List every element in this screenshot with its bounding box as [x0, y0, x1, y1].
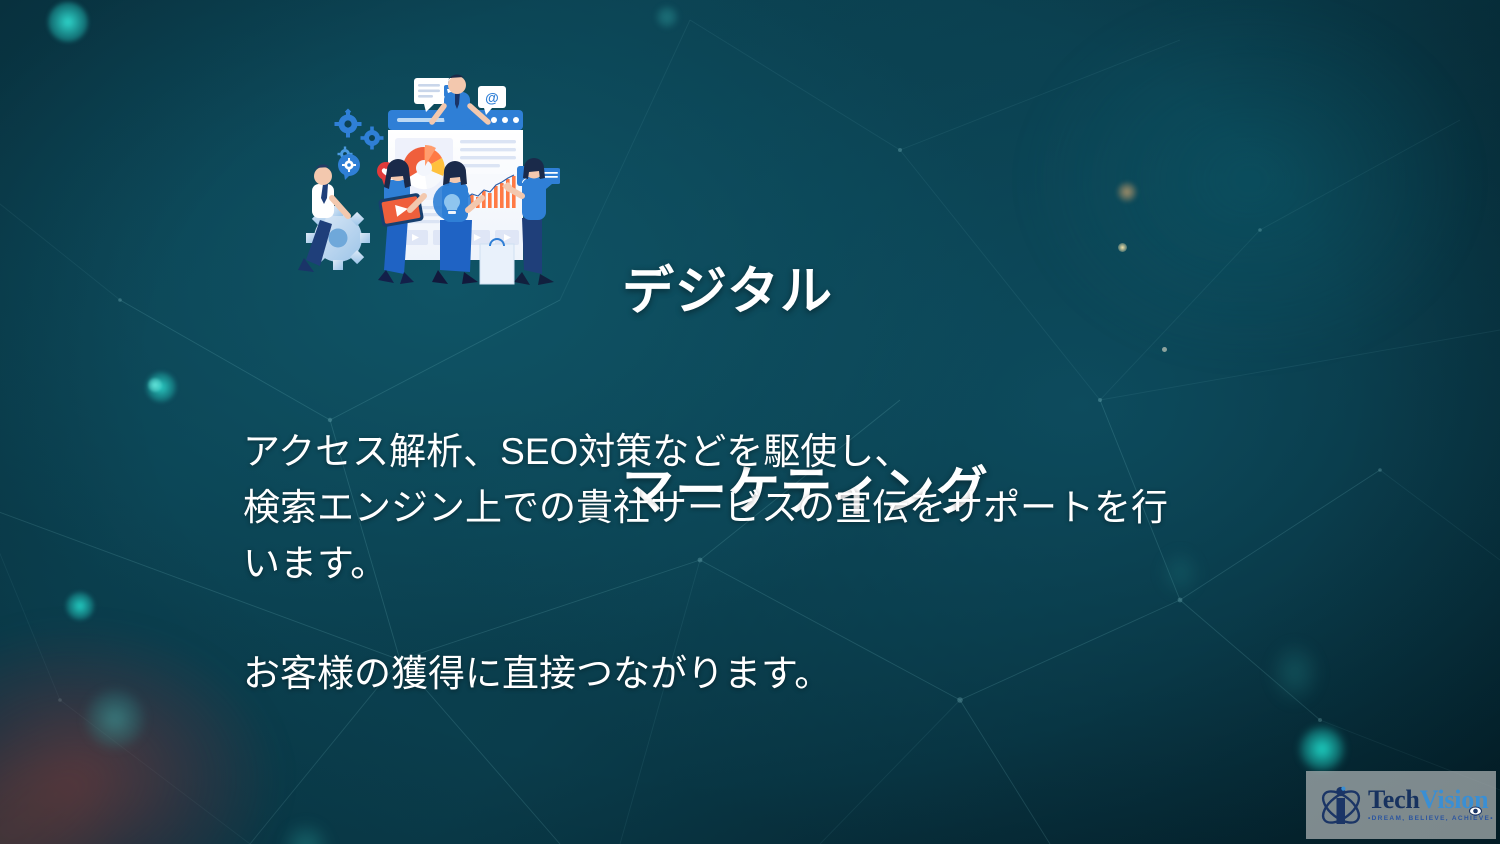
eye-icon — [1469, 806, 1482, 816]
techvision-logo[interactable]: TechVision •DREAM, BELIEVE, ACHIEVE• — [1306, 771, 1496, 839]
presentation-slide: @ — [0, 0, 1500, 844]
slide-body: アクセス解析、SEO対策などを駆使し、 検索エンジン上での貴社サービスの宣伝をサ… — [243, 424, 1313, 702]
svg-text:@: @ — [485, 90, 499, 106]
body-paragraph-1: アクセス解析、SEO対策などを駆使し、 検索エンジン上での貴社サービスの宣伝をサ… — [243, 424, 1313, 593]
chat-bubble-gear-icon — [338, 154, 360, 180]
logo-wordmark: TechVision •DREAM, BELIEVE, ACHIEVE• — [1368, 787, 1494, 823]
logo-word-tech: Tech — [1368, 785, 1420, 814]
shopping-bag-icon — [480, 239, 514, 284]
atom-orbit-person-icon — [1315, 779, 1367, 831]
slide-title-line-1: デジタル — [622, 259, 1182, 326]
body-paragraph-2: お客様の獲得に直接つながります。 — [243, 646, 1313, 702]
gear-icon — [335, 108, 384, 161]
paragraph-spacer — [243, 593, 1313, 646]
logo-tagline: •DREAM, BELIEVE, ACHIEVE• — [1368, 816, 1494, 823]
digital-marketing-illustration: @ — [292, 70, 560, 292]
